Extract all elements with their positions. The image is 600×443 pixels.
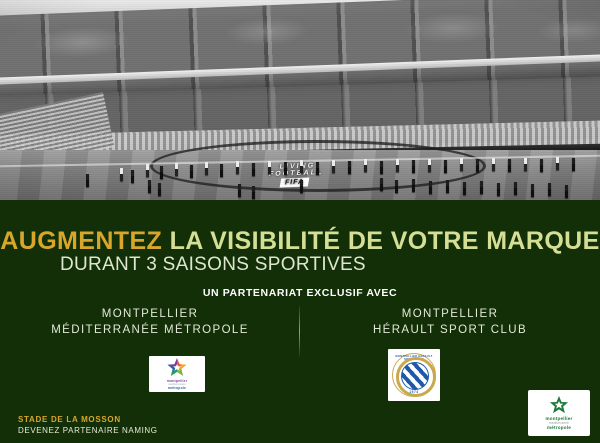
poster-root: LIVING FOOTBALL FIFA	[0, 0, 600, 443]
green-star-outline-icon	[550, 396, 569, 414]
metropole-logo-card: montpellier méditerranée métropole	[149, 356, 205, 392]
partner-block-metropole: MONTPELLIER MÉDITERRANÉE MÉTROPOLE	[0, 306, 300, 338]
headline-emphasis: AUGMENTEZ	[0, 227, 162, 255]
subheadline: DURANT 3 SAISONS SPORTIVES	[60, 254, 366, 276]
partner-metropole-line2: MÉDITERRANÉE MÉTROPOLE	[0, 322, 300, 338]
multicolor-star-icon	[167, 358, 187, 377]
green-content-panel: AUGMENTEZ LA VISIBILITÉ DE VOTRE MARQUE …	[0, 200, 600, 443]
headline: AUGMENTEZ LA VISIBILITÉ DE VOTRE MARQUE	[0, 227, 600, 256]
players-row	[0, 150, 600, 200]
corner-logo-badge: montpellier méditerranée métropole	[528, 390, 590, 436]
naming-block: STADE DE LA MOSSON DEVENEZ PARTENAIRE NA…	[18, 415, 158, 436]
naming-title: STADE DE LA MOSSON	[18, 415, 158, 425]
headline-rest: LA VISIBILITÉ DE VOTRE MARQUE	[162, 227, 600, 255]
mhsc-crest-stripes	[401, 362, 429, 390]
metropole-logo-line3: métropole	[168, 386, 186, 390]
corner-badge-line3: métropole	[547, 425, 571, 430]
mhsc-crest-icon: MONTPELLIER HÉRAULT SPORT CLUB 1974	[392, 353, 436, 397]
naming-subtitle: DEVENEZ PARTENAIRE NAMING	[18, 425, 158, 436]
partner-mhsc-line1: MONTPELLIER	[300, 306, 600, 322]
stadium-photo: LIVING FOOTBALL FIFA	[0, 0, 600, 200]
partner-mhsc-line2: HÉRAULT SPORT CLUB	[300, 322, 600, 338]
mhsc-logo-card: MONTPELLIER HÉRAULT SPORT CLUB 1974	[388, 349, 440, 401]
partners-columns: MONTPELLIER MÉDITERRANÉE MÉTROPOLE MONTP…	[0, 306, 600, 416]
mhsc-crest-year: 1974	[393, 390, 435, 394]
partner-metropole-line1: MONTPELLIER	[0, 306, 300, 322]
partnership-lead: UN PARTENARIAT EXCLUSIF AVEC	[0, 287, 600, 299]
partner-block-mhsc: MONTPELLIER HÉRAULT SPORT CLUB	[300, 306, 600, 338]
